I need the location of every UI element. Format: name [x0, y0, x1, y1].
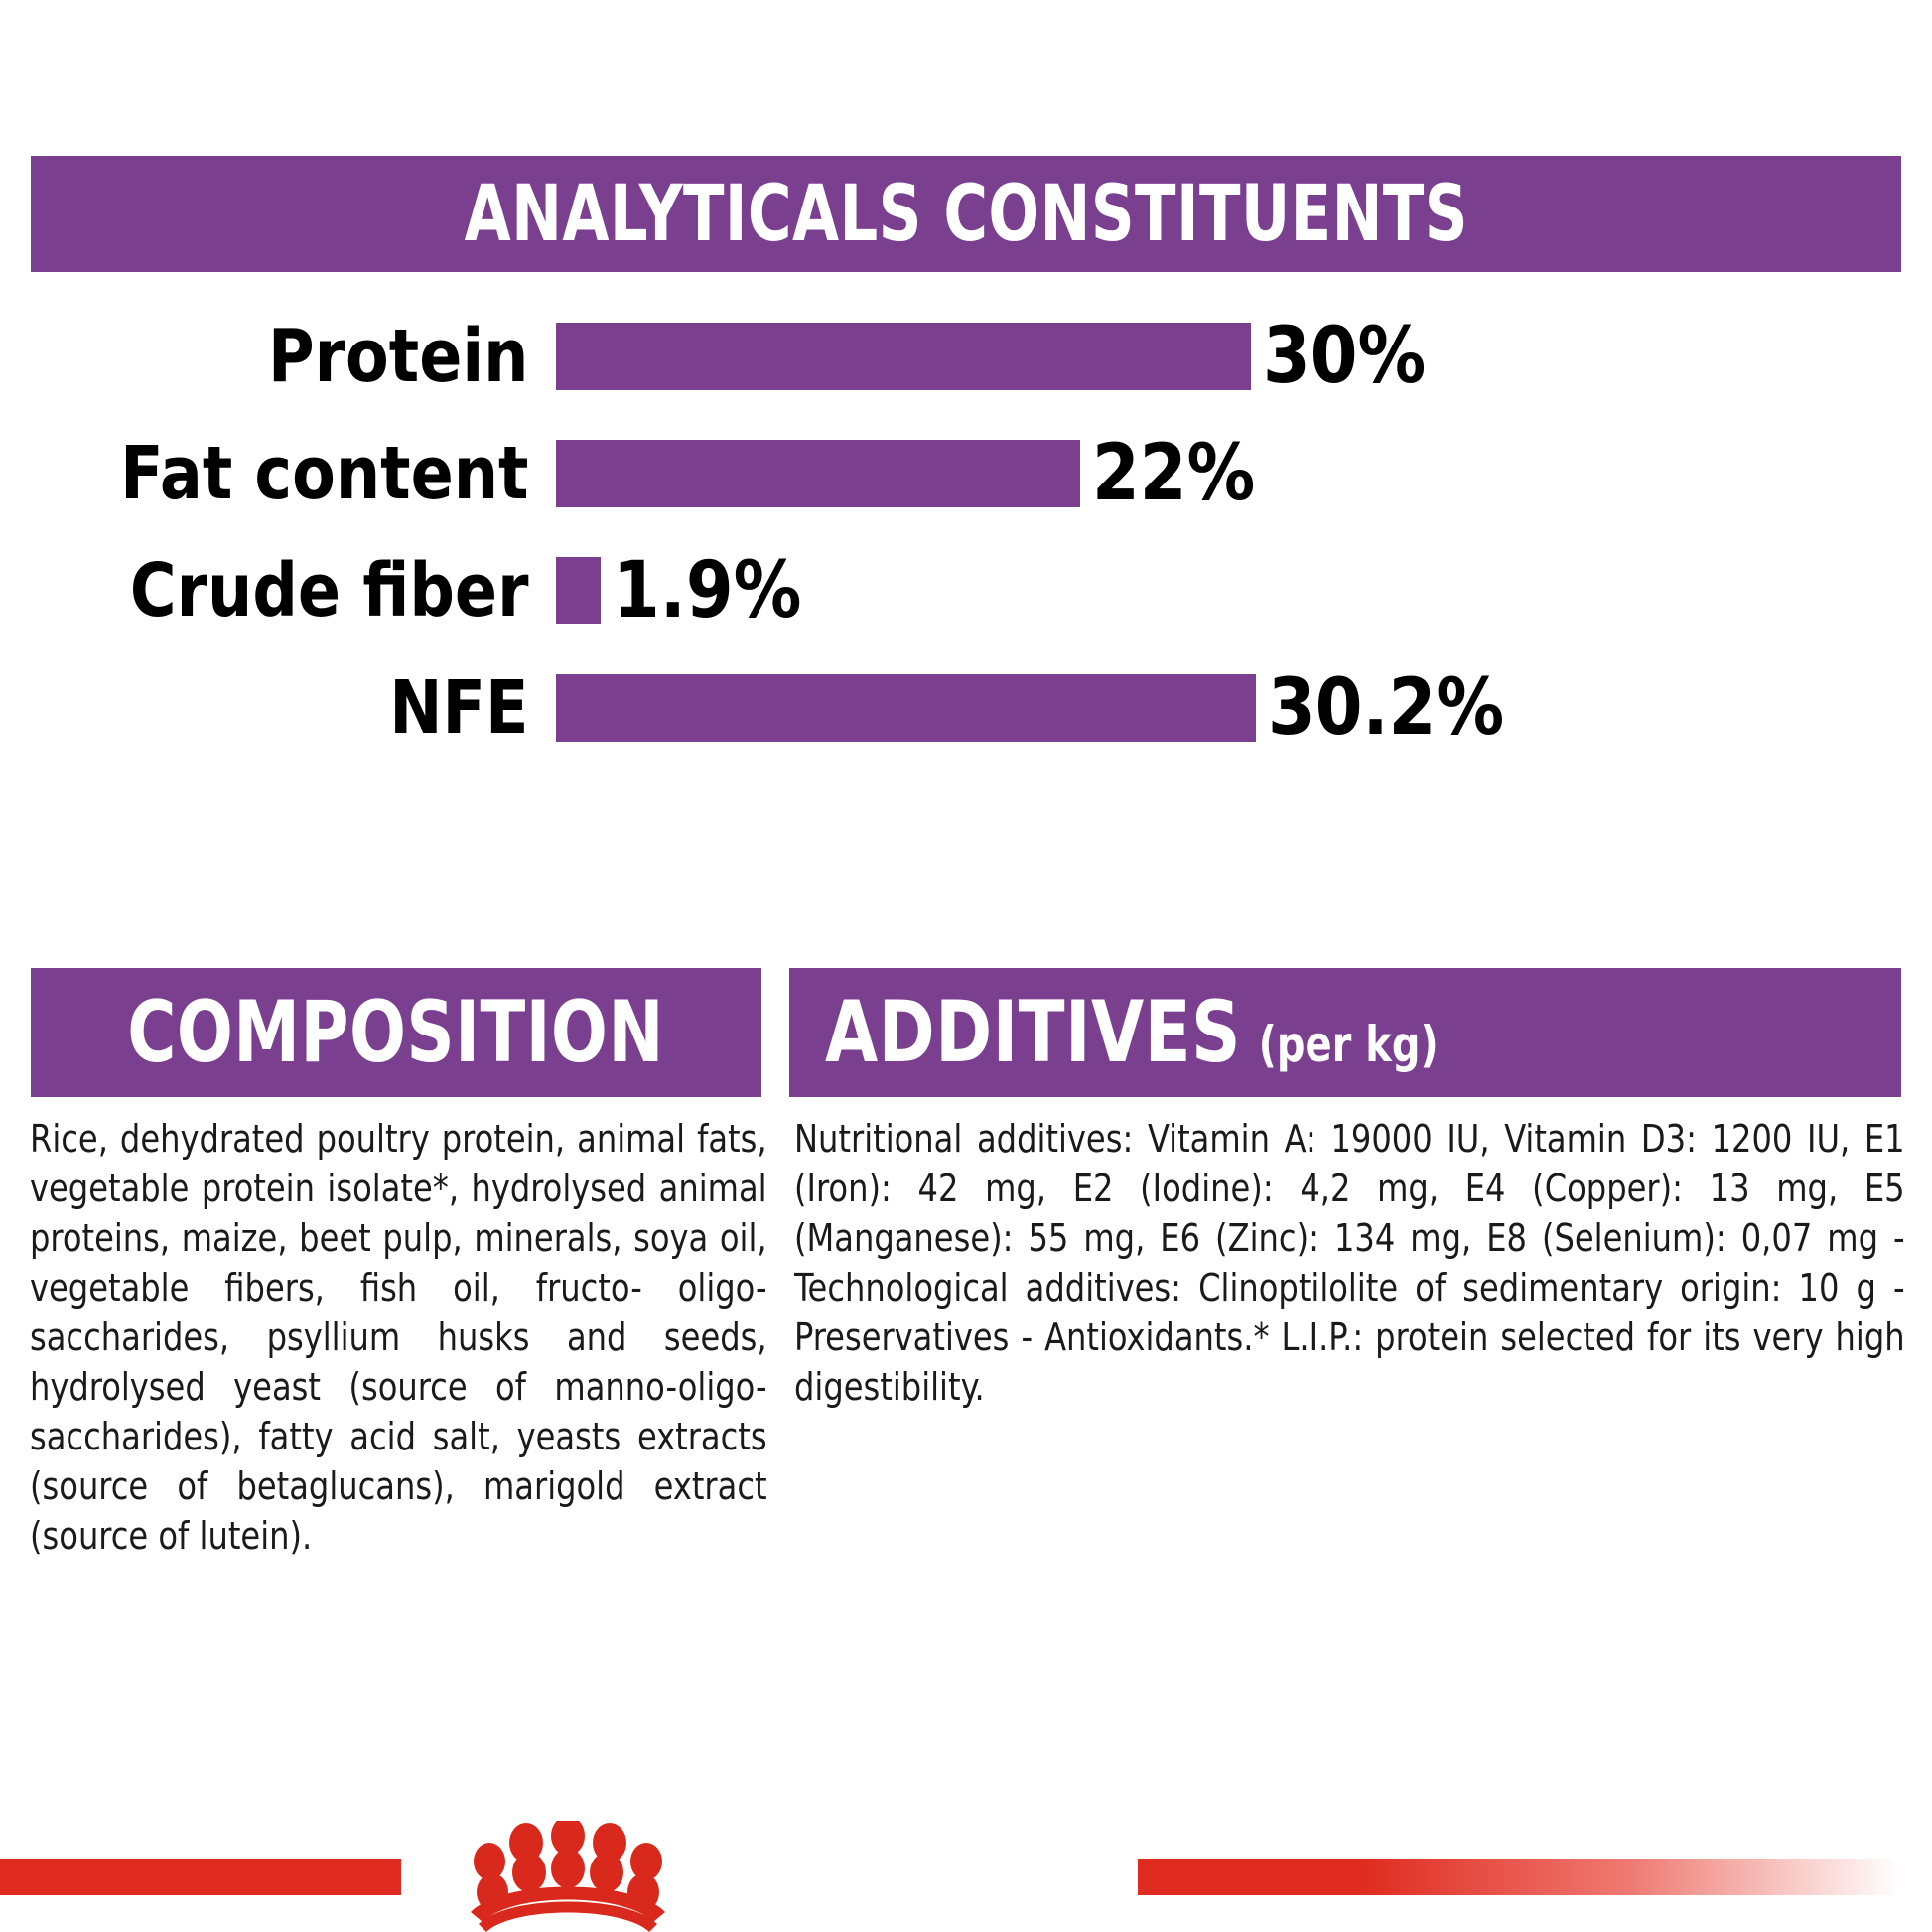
chart-bar-nfe	[556, 674, 1256, 742]
composition-title: COMPOSITION	[128, 983, 665, 1082]
additives-title-unit: (per kg)	[1259, 1016, 1439, 1073]
chart-bar-area-protein: 30%	[556, 298, 1932, 415]
chart-bar-protein	[556, 323, 1251, 390]
chart-bar-fat-content	[556, 440, 1080, 507]
chart-value-protein: 30%	[1263, 318, 1426, 395]
additives-title: ADDITIVES	[825, 983, 1241, 1082]
footer-stripe-left	[0, 1859, 401, 1895]
additives-title-group: ADDITIVES (per kg)	[825, 983, 1439, 1082]
chart-row-protein: Protein 30%	[0, 298, 1932, 415]
chart-bar-crude-fiber	[556, 557, 601, 624]
chart-label-fat-content: Fat content	[77, 437, 556, 510]
nutrition-label-page: ANALYTICALS CONSTITUENTS Protein 30% Fat…	[0, 0, 1932, 1932]
analyticals-bar-chart: Protein 30% Fat content 22% Crude fiber …	[0, 298, 1932, 913]
chart-value-fat-content: 22%	[1092, 435, 1255, 512]
chart-label-protein: Protein	[77, 320, 556, 393]
chart-row-crude-fiber: Crude fiber 1.9%	[0, 532, 1932, 649]
chart-value-crude-fiber: 1.9%	[613, 552, 801, 629]
analyticals-constituents-title: ANALYTICALS CONSTITUENTS	[464, 170, 1467, 259]
composition-body-text: Rice, dehydrated poultry protein, animal…	[30, 1114, 767, 1561]
chart-label-crude-fiber: Crude fiber	[77, 554, 556, 627]
additives-header-bar: ADDITIVES (per kg)	[789, 968, 1901, 1097]
chart-row-nfe: NFE 30.2%	[0, 649, 1932, 766]
royal-canin-crown-icon	[449, 1821, 687, 1932]
chart-bar-area-fat-content: 22%	[556, 415, 1932, 532]
footer	[0, 1825, 1932, 1932]
chart-row-fat-content: Fat content 22%	[0, 415, 1932, 532]
chart-bar-area-crude-fiber: 1.9%	[556, 532, 1932, 649]
analyticals-constituents-header-bar: ANALYTICALS CONSTITUENTS	[31, 156, 1901, 272]
additives-body-text: Nutritional additives: Vitamin A: 19000 …	[794, 1114, 1905, 1412]
composition-header-bar: COMPOSITION	[31, 968, 761, 1097]
chart-label-nfe: NFE	[77, 671, 556, 745]
chart-value-nfe: 30.2%	[1268, 669, 1504, 747]
footer-stripe-right	[1138, 1859, 1932, 1895]
chart-bar-area-nfe: 30.2%	[556, 649, 1932, 766]
